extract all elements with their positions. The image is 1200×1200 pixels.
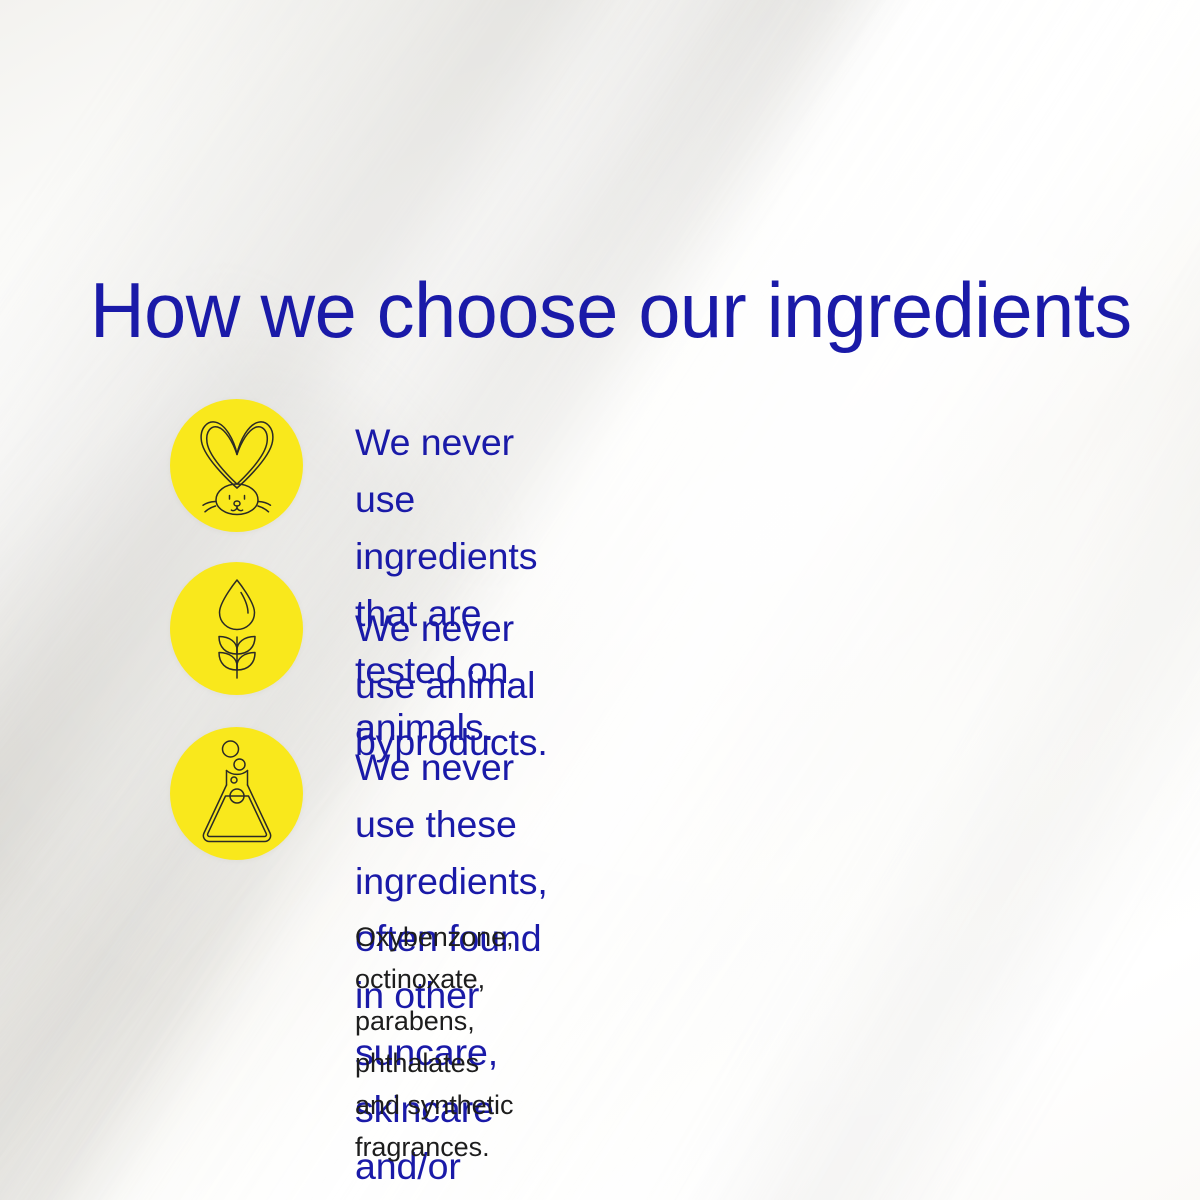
feature-badge: [170, 727, 303, 860]
page-title: How we choose our ingredients: [90, 271, 1132, 349]
feature-badge: [170, 399, 303, 532]
feature-badge: [170, 562, 303, 695]
feature-note-ingredient-list: Oxybenzone, octinoxate, parabens, phthal…: [355, 916, 514, 1168]
content-layer: How we choose our ingredients: [0, 0, 1200, 1200]
flask-bubbles-icon: [199, 740, 275, 848]
bunny-heart-ears-icon: [194, 416, 280, 516]
plant-droplet-icon: [197, 577, 277, 681]
poster-canvas: How we choose our ingredients: [0, 0, 1200, 1200]
